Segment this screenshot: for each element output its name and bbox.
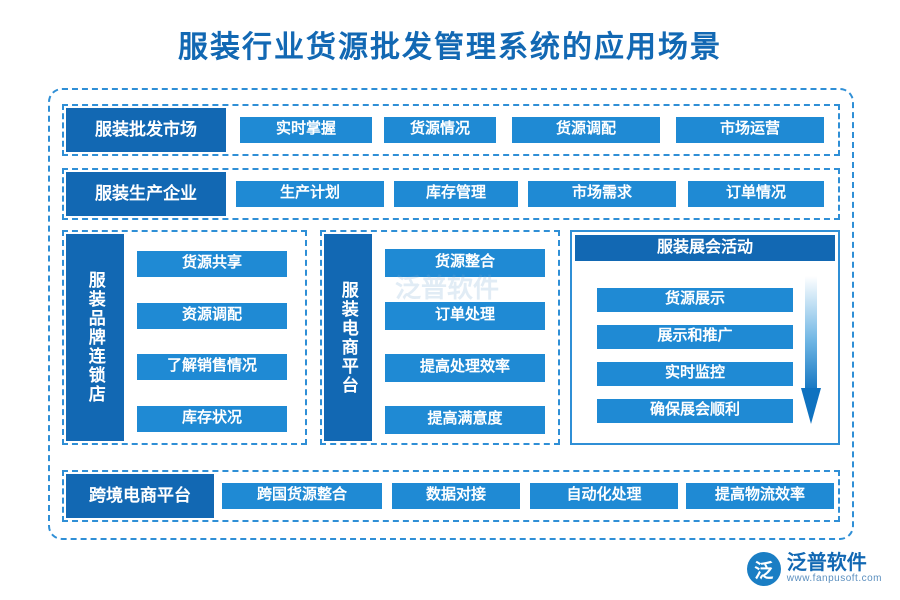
logo-name: 泛普软件: [787, 553, 882, 574]
group-ecommerce-item-2[interactable]: 订单处理: [385, 302, 545, 330]
row-market-item-3[interactable]: 货源调配: [512, 117, 660, 143]
row-cross-border-item-3[interactable]: 自动化处理: [530, 483, 678, 509]
group-expo-item-3[interactable]: 实时监控: [597, 362, 793, 386]
group-brand-store-item-1[interactable]: 货源共享: [137, 251, 287, 277]
brand-logo: 泛 泛普软件 www.fanpusoft.com: [747, 552, 882, 586]
group-expo-item-2[interactable]: 展示和推广: [597, 325, 793, 349]
row-production-item-2[interactable]: 库存管理: [394, 181, 518, 207]
group-expo-header: 服装展会活动: [575, 235, 835, 261]
row-market-item-2[interactable]: 货源情况: [384, 117, 496, 143]
down-arrow-icon: [800, 276, 822, 426]
group-expo-item-4[interactable]: 确保展会顺利: [597, 399, 793, 423]
row-cross-border-item-1[interactable]: 跨国货源整合: [222, 483, 382, 509]
group-brand-store-item-2[interactable]: 资源调配: [137, 303, 287, 329]
row-production-item-1[interactable]: 生产计划: [236, 181, 384, 207]
group-brand-store-item-4[interactable]: 库存状况: [137, 406, 287, 432]
group-ecommerce-item-4[interactable]: 提高满意度: [385, 406, 545, 434]
group-ecommerce-header: 服装电商平台: [324, 234, 372, 441]
row-cross-border-item-2[interactable]: 数据对接: [392, 483, 520, 509]
row-production-header: 服装生产企业: [66, 172, 226, 216]
group-brand-store-item-3[interactable]: 了解销售情况: [137, 354, 287, 380]
row-cross-border-item-4[interactable]: 提高物流效率: [686, 483, 834, 509]
group-ecommerce-item-3[interactable]: 提高处理效率: [385, 354, 545, 382]
row-cross-border-header: 跨境电商平台: [66, 474, 214, 518]
logo-mark-icon: 泛: [747, 552, 781, 586]
row-production-item-3[interactable]: 市场需求: [528, 181, 676, 207]
row-market-header: 服装批发市场: [66, 108, 226, 152]
logo-text: 泛普软件 www.fanpusoft.com: [787, 553, 882, 585]
diagram-canvas: 服装行业货源批发管理系统的应用场景 服装批发市场 实时掌握 货源情况 货源调配 …: [0, 0, 900, 600]
row-market-item-4[interactable]: 市场运营: [676, 117, 824, 143]
row-market-item-1[interactable]: 实时掌握: [240, 117, 372, 143]
group-expo-item-1[interactable]: 货源展示: [597, 288, 793, 312]
group-ecommerce-item-1[interactable]: 货源整合: [385, 249, 545, 277]
page-title: 服装行业货源批发管理系统的应用场景: [0, 22, 900, 66]
logo-url: www.fanpusoft.com: [787, 574, 882, 585]
group-brand-store-header: 服装品牌连锁店: [66, 234, 124, 441]
row-production-item-4[interactable]: 订单情况: [688, 181, 824, 207]
